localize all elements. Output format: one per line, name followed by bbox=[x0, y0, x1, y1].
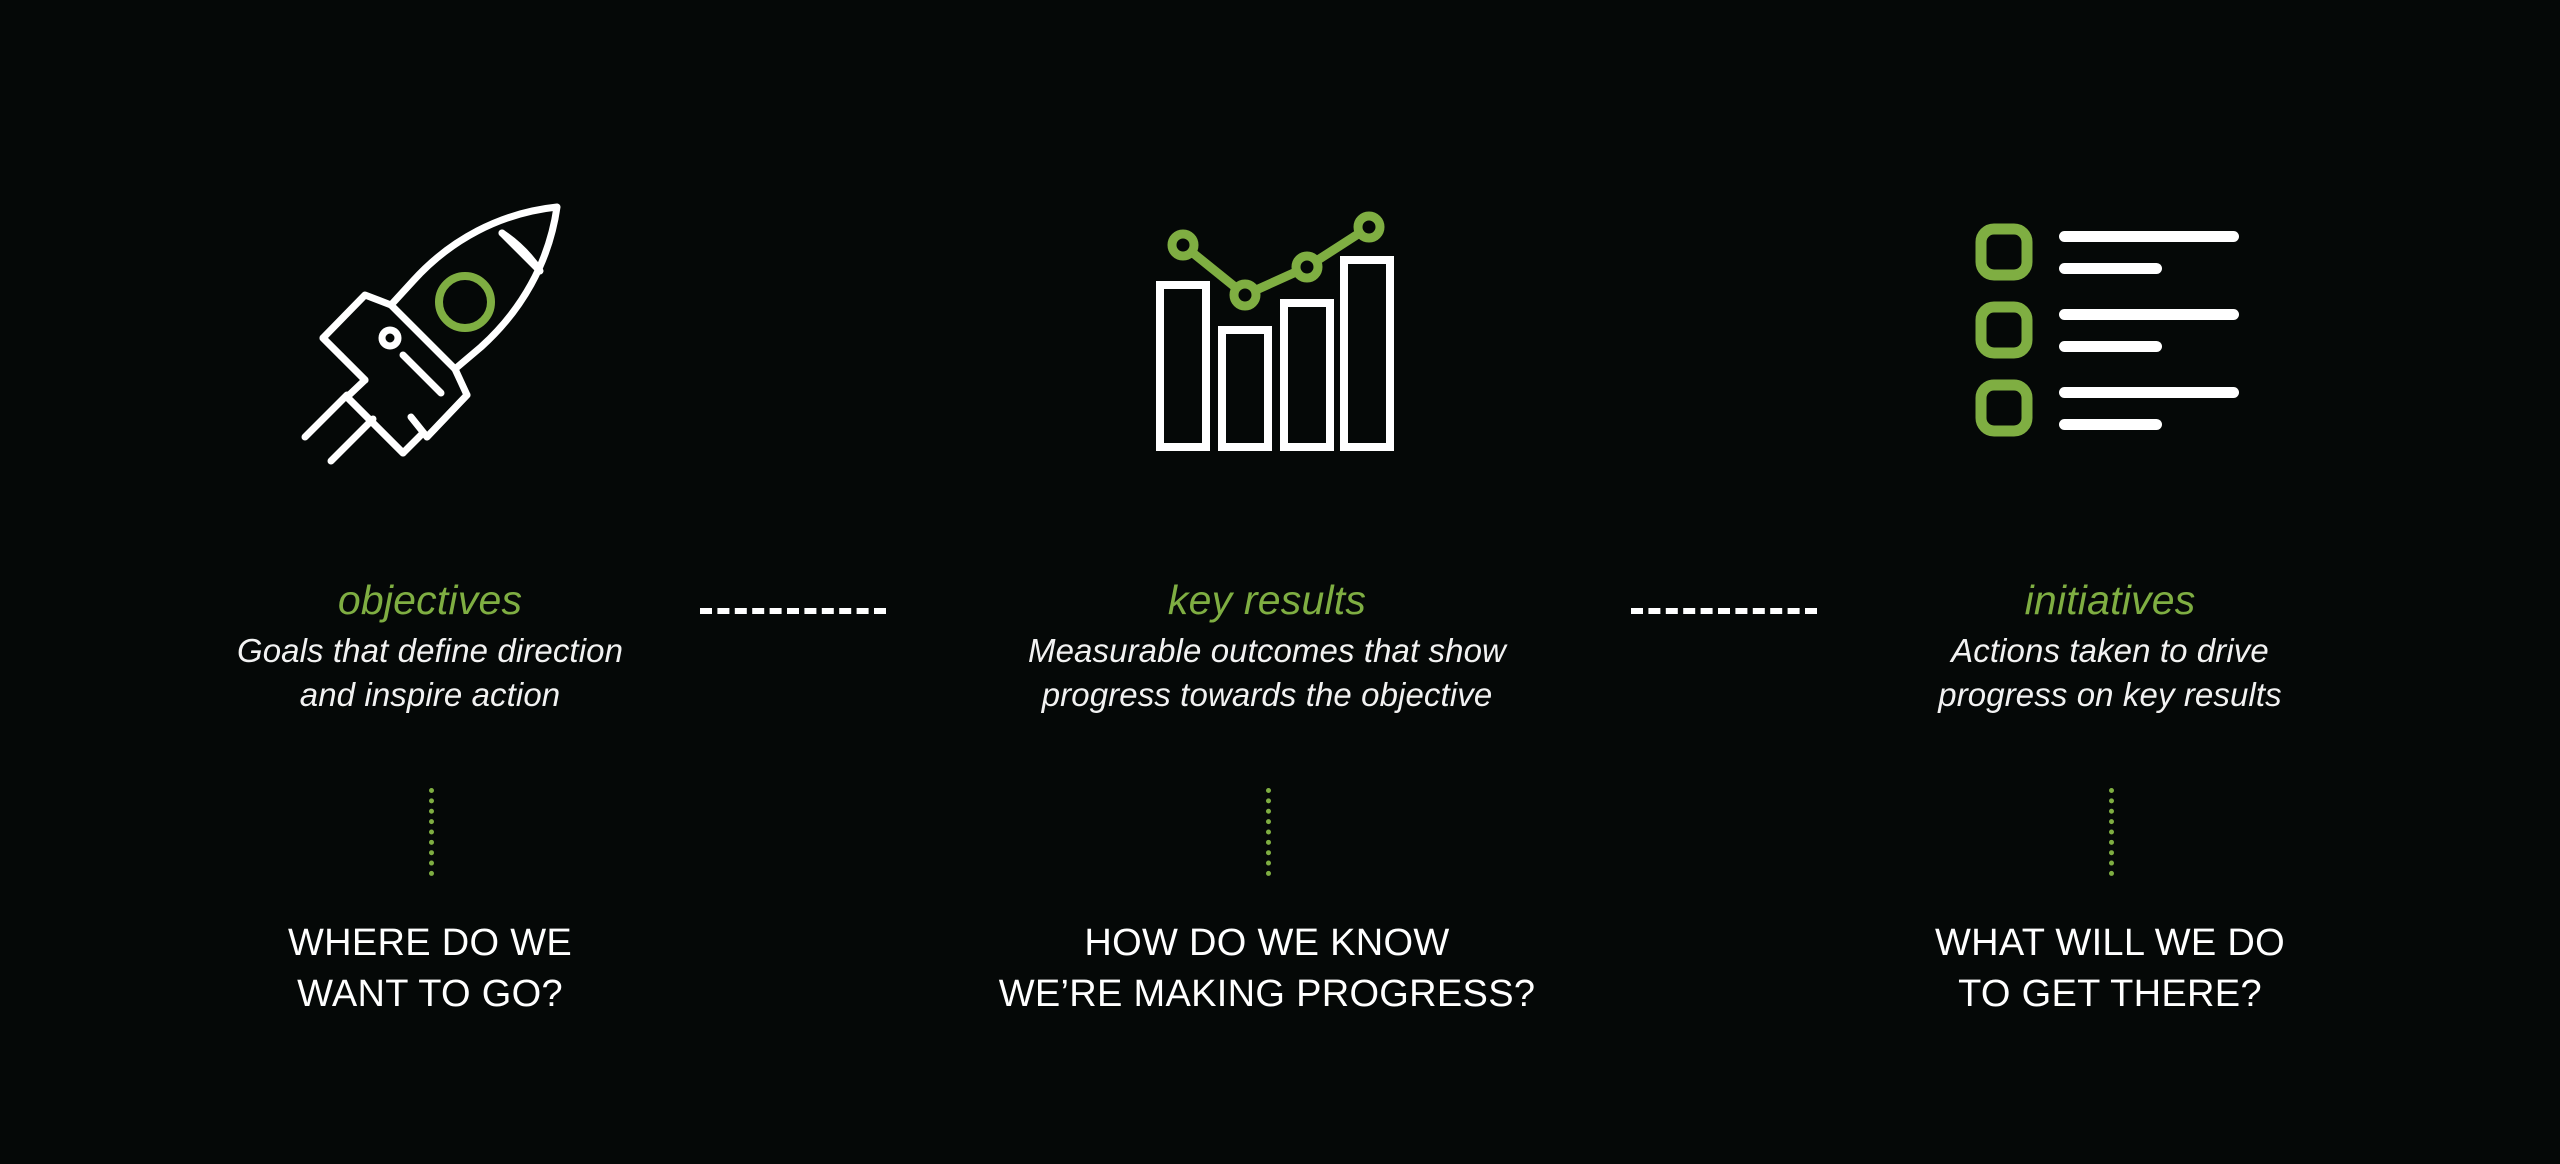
page-title-key-results: key results bbox=[917, 578, 1617, 622]
checklist-icon-container bbox=[1760, 185, 2460, 475]
objectives-question: WHERE DO WE WANT TO GO? bbox=[80, 918, 780, 1019]
key-results-description-line-2: progress towards the objective bbox=[917, 673, 1617, 717]
checklist-box-2 bbox=[1981, 307, 2027, 353]
key-results-question-line-2: WE’RE MAKING PROGRESS? bbox=[917, 969, 1617, 1020]
objectives-description-line-2: and inspire action bbox=[80, 673, 780, 717]
trend-point-2 bbox=[1234, 284, 1256, 306]
page-title-initiatives: initiatives bbox=[1760, 578, 2460, 622]
trend-point-3 bbox=[1296, 256, 1318, 278]
checklist-line-2-short bbox=[2059, 341, 2162, 352]
initiatives-description-line-1: Actions taken to drive bbox=[1760, 629, 2460, 673]
bar-chart-icon-container bbox=[917, 185, 1617, 475]
checklist-line-3-short bbox=[2059, 419, 2162, 430]
column-objectives: objectives Goals that define direction a… bbox=[80, 0, 780, 1164]
initiatives-question: WHAT WILL WE DO TO GET THERE? bbox=[1760, 918, 2460, 1019]
key-results-description-line-1: Measurable outcomes that show bbox=[917, 629, 1617, 673]
initiatives-description: Actions taken to drive progress on key r… bbox=[1760, 629, 2460, 716]
connector-dotted-objectives bbox=[429, 788, 434, 876]
objectives-text-block: objectives Goals that define direction a… bbox=[80, 578, 780, 716]
objectives-question-line-1: WHERE DO WE bbox=[80, 918, 780, 969]
bar-2 bbox=[1222, 330, 1268, 447]
key-results-question: HOW DO WE KNOW WE’RE MAKING PROGRESS? bbox=[917, 918, 1617, 1019]
key-results-text-block: key results Measurable outcomes that sho… bbox=[917, 578, 1617, 716]
initiatives-text-block: initiatives Actions taken to drive progr… bbox=[1760, 578, 2460, 716]
key-results-question-line-1: HOW DO WE KNOW bbox=[917, 918, 1617, 969]
rocket-rivet-icon bbox=[382, 330, 398, 346]
checklist-line-2-long bbox=[2059, 309, 2239, 320]
rocket-icon bbox=[295, 195, 565, 465]
bar-4 bbox=[1344, 260, 1390, 447]
trend-point-1 bbox=[1172, 234, 1194, 256]
bar-3 bbox=[1284, 303, 1330, 447]
rocket-icon-container bbox=[80, 185, 780, 475]
column-key-results: key results Measurable outcomes that sho… bbox=[917, 0, 1617, 1164]
checklist-line-1-short bbox=[2059, 263, 2162, 274]
objectives-question-line-2: WANT TO GO? bbox=[80, 969, 780, 1020]
checklist-icon bbox=[1975, 223, 2245, 438]
key-results-description: Measurable outcomes that show progress t… bbox=[917, 629, 1617, 716]
checklist-box-1 bbox=[1981, 229, 2027, 275]
separator-objectives-keyresults bbox=[700, 608, 886, 614]
infographic-canvas: objectives Goals that define direction a… bbox=[0, 0, 2560, 1164]
column-initiatives: initiatives Actions taken to drive progr… bbox=[1760, 0, 2460, 1164]
checklist-line-1-long bbox=[2059, 231, 2239, 242]
page-title-objectives: objectives bbox=[80, 578, 780, 622]
trend-point-4 bbox=[1358, 216, 1380, 238]
checklist-line-3-long bbox=[2059, 387, 2239, 398]
objectives-description: Goals that define direction and inspire … bbox=[80, 629, 780, 716]
connector-dotted-initiatives bbox=[2109, 788, 2114, 876]
bar-1 bbox=[1160, 285, 1206, 447]
bar-chart-trend-icon bbox=[1152, 205, 1382, 455]
initiatives-question-line-1: WHAT WILL WE DO bbox=[1760, 918, 2460, 969]
initiatives-question-line-2: TO GET THERE? bbox=[1760, 969, 2460, 1020]
bar-group bbox=[1160, 260, 1390, 447]
objectives-description-line-1: Goals that define direction bbox=[80, 629, 780, 673]
connector-dotted-key-results bbox=[1266, 788, 1271, 876]
checklist-box-3 bbox=[1981, 385, 2027, 431]
initiatives-description-line-2: progress on key results bbox=[1760, 673, 2460, 717]
rocket-window-icon bbox=[439, 276, 491, 328]
